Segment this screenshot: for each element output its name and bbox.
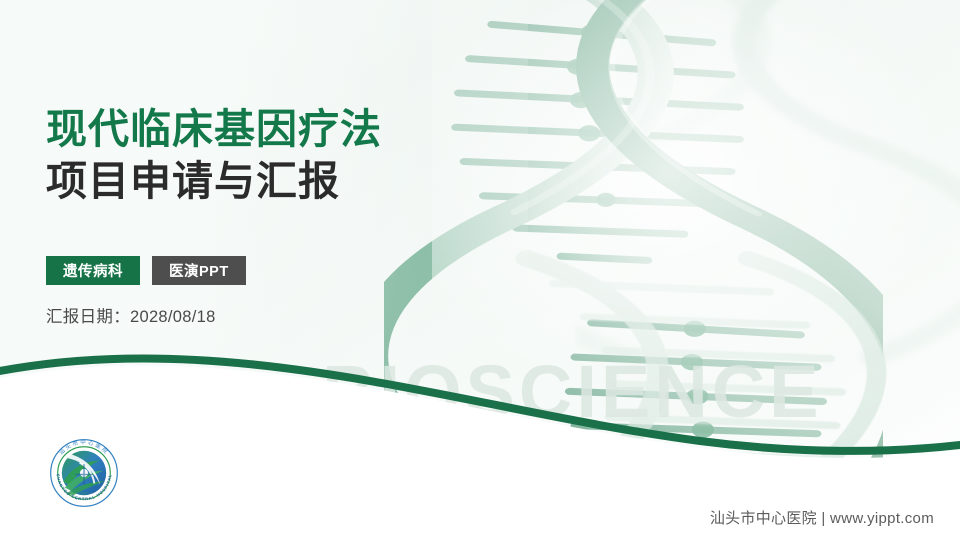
tag-row: 遗传病科 医演PPT <box>46 256 246 285</box>
logo-emblem <box>62 451 106 495</box>
presentation-cover-slide: BIOSCIENCE 现代临床基因疗法 项目申请与汇报 遗传病科 医演PPT 汇… <box>0 0 960 540</box>
title-line-primary: 现代临床基因疗法 <box>46 104 516 156</box>
logo-year: 1923 <box>79 492 89 496</box>
hospital-logo: 汕头市中心医院 SHANTOU CENTRAL HOSPITAL 1923 <box>47 436 121 510</box>
tag-department[interactable]: 遗传病科 <box>46 256 140 285</box>
page-title: 现代临床基因疗法 项目申请与汇报 <box>46 104 516 207</box>
tag-template-brand[interactable]: 医演PPT <box>152 256 246 285</box>
report-date: 汇报日期：2028/08/18 <box>46 303 216 327</box>
footer-credit: 汕头市中心医院 | www.yippt.com <box>710 507 934 528</box>
title-line-secondary: 项目申请与汇报 <box>46 156 516 208</box>
dna-helix-background-icon <box>576 0 960 378</box>
